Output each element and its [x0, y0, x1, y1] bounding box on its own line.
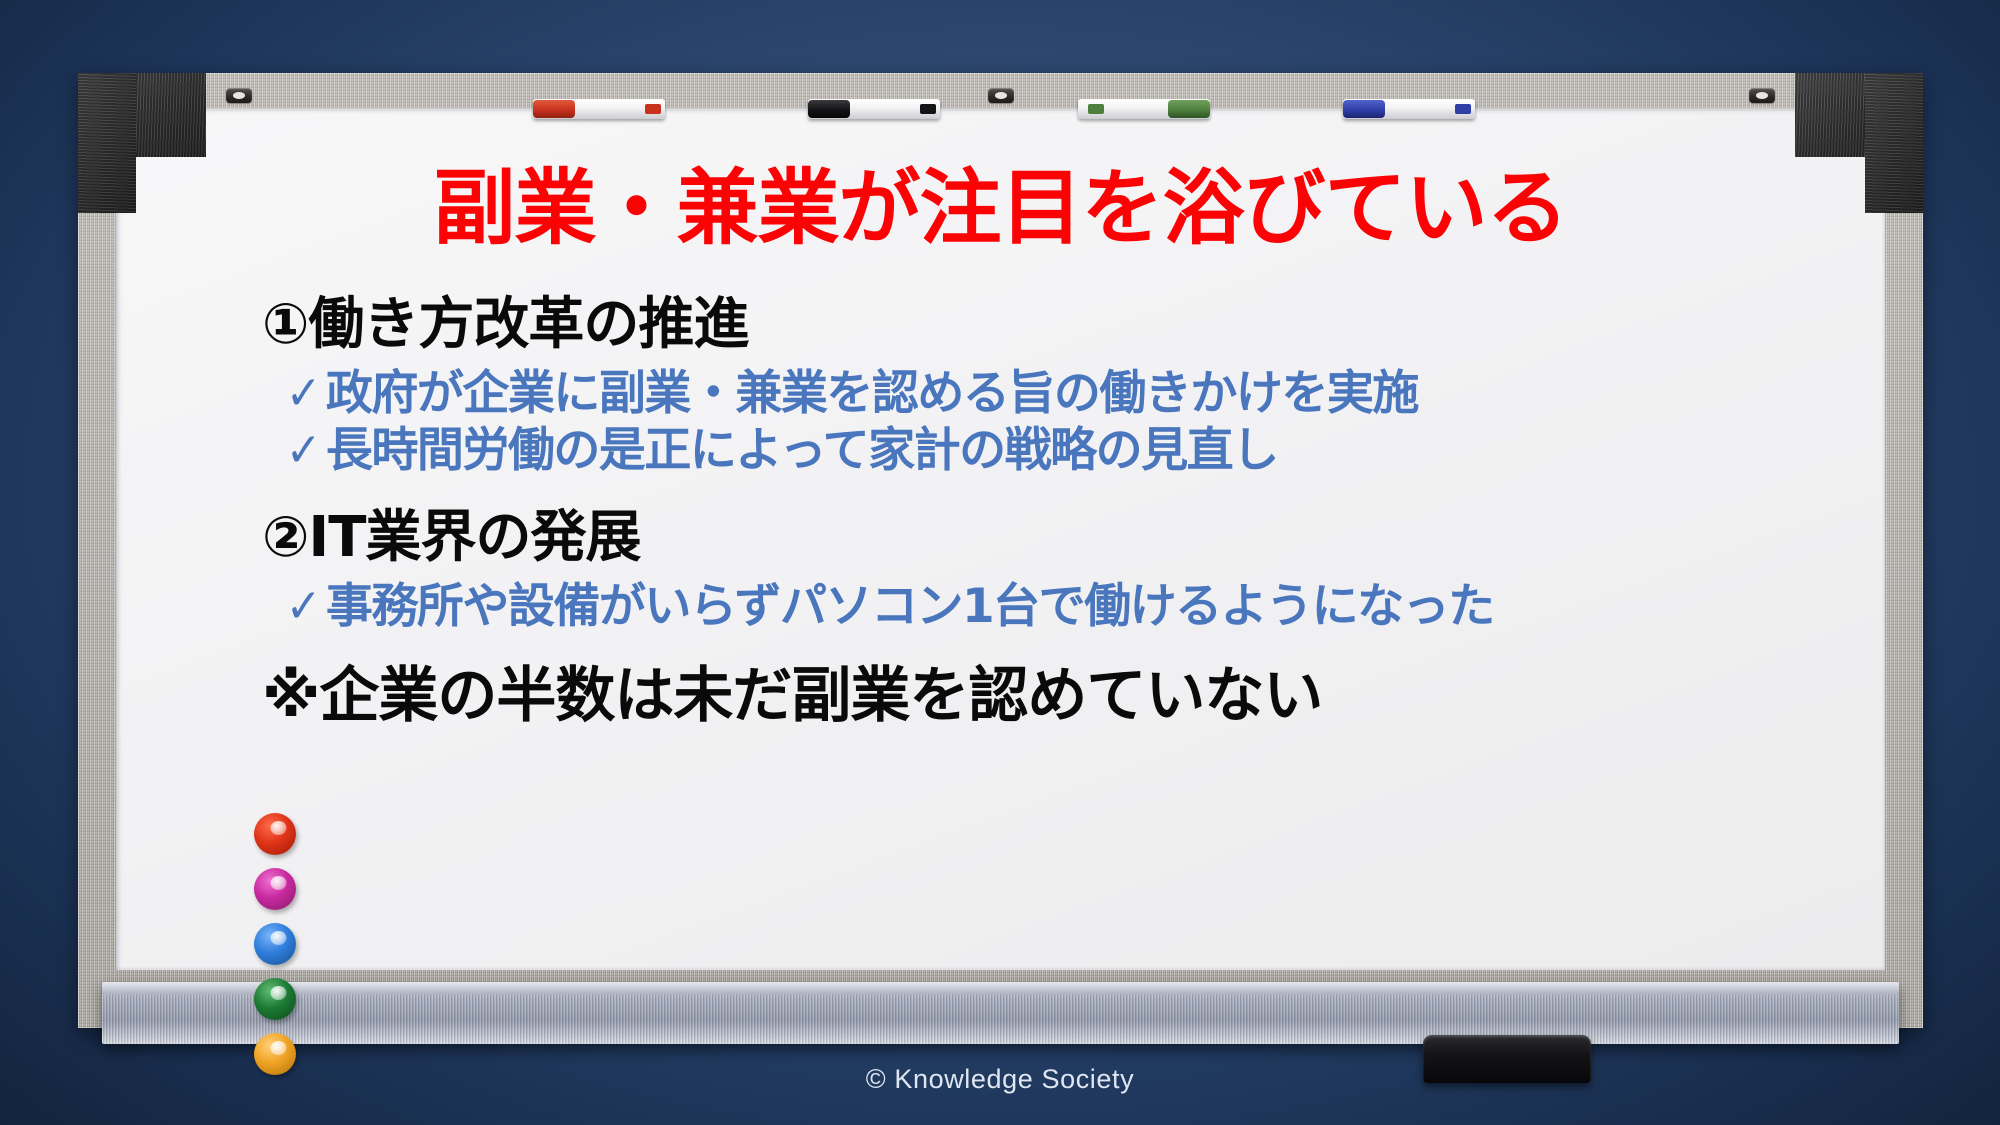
board-content: 副業・兼業が注目を浴びている ①働き方改革の推進 ✓政府が企業に副業・兼業を認め… — [116, 108, 1885, 970]
check-icon: ✓ — [286, 422, 320, 479]
pen-tray-lip — [102, 982, 1899, 994]
section-1-bullet-2: ✓長時間労働の是正によって家計の戦略の見直し — [284, 422, 1862, 479]
section-2-heading: ②IT業界の発展 — [262, 507, 1862, 570]
marker-tip — [645, 104, 661, 114]
whiteboard: 副業・兼業が注目を浴びている ①働き方改革の推進 ✓政府が企業に副業・兼業を認め… — [78, 73, 1923, 1028]
section-2-bullet-1-label: 事務所や設備がいらずパソコン1台で働けるようになった — [326, 578, 1494, 635]
marker-red[interactable] — [533, 99, 665, 119]
section-1-heading: ①働き方改革の推進 — [262, 294, 1862, 357]
magnet-red[interactable] — [254, 813, 296, 855]
section-1-bullet-1: ✓政府が企業に副業・兼業を認める旨の働きかけを実施 — [284, 365, 1862, 422]
check-icon: ✓ — [286, 578, 320, 635]
section-1-bullet-2-label: 長時間労働の是正によって家計の戦略の見直し — [326, 422, 1278, 479]
marker-green[interactable] — [1078, 99, 1210, 119]
frame-screw-right-icon — [1749, 88, 1775, 103]
marker-cap — [533, 100, 575, 118]
magnet-strip — [254, 813, 296, 1088]
slide-body: ①働き方改革の推進 ✓政府が企業に副業・兼業を認める旨の働きかけを実施 ✓長時間… — [262, 294, 1862, 729]
marker-black[interactable] — [808, 99, 940, 119]
magnet-magenta[interactable] — [254, 868, 296, 910]
pen-tray — [102, 982, 1899, 1044]
magnet-green[interactable] — [254, 978, 296, 1020]
marker-tip — [1455, 104, 1471, 114]
magnet-blue[interactable] — [254, 923, 296, 965]
marker-cap — [1168, 100, 1210, 118]
frame-screw-center-icon — [988, 88, 1014, 103]
marker-cap — [808, 100, 850, 118]
check-icon: ✓ — [286, 365, 320, 422]
section-2-bullet-1: ✓事務所や設備がいらずパソコン1台で働けるようになった — [284, 578, 1862, 635]
slide-note: ※企業の半数は未だ副業を認めていない — [262, 663, 1862, 729]
corner-bracket-left-leg-icon — [78, 73, 136, 213]
frame-screw-left-icon — [226, 88, 252, 103]
marker-tip — [920, 104, 936, 114]
corner-bracket-right-leg-icon — [1865, 73, 1923, 213]
marker-blue[interactable] — [1343, 99, 1475, 119]
marker-cap — [1343, 100, 1385, 118]
footer-copyright: © Knowledge Society — [0, 1064, 2000, 1095]
section-1-bullet-1-label: 政府が企業に副業・兼業を認める旨の働きかけを実施 — [326, 365, 1418, 422]
marker-tip — [1088, 104, 1104, 114]
slide-title: 副業・兼業が注目を浴びている — [116, 166, 1885, 252]
slide-canvas: 副業・兼業が注目を浴びている ①働き方改革の推進 ✓政府が企業に副業・兼業を認め… — [0, 0, 2000, 1125]
